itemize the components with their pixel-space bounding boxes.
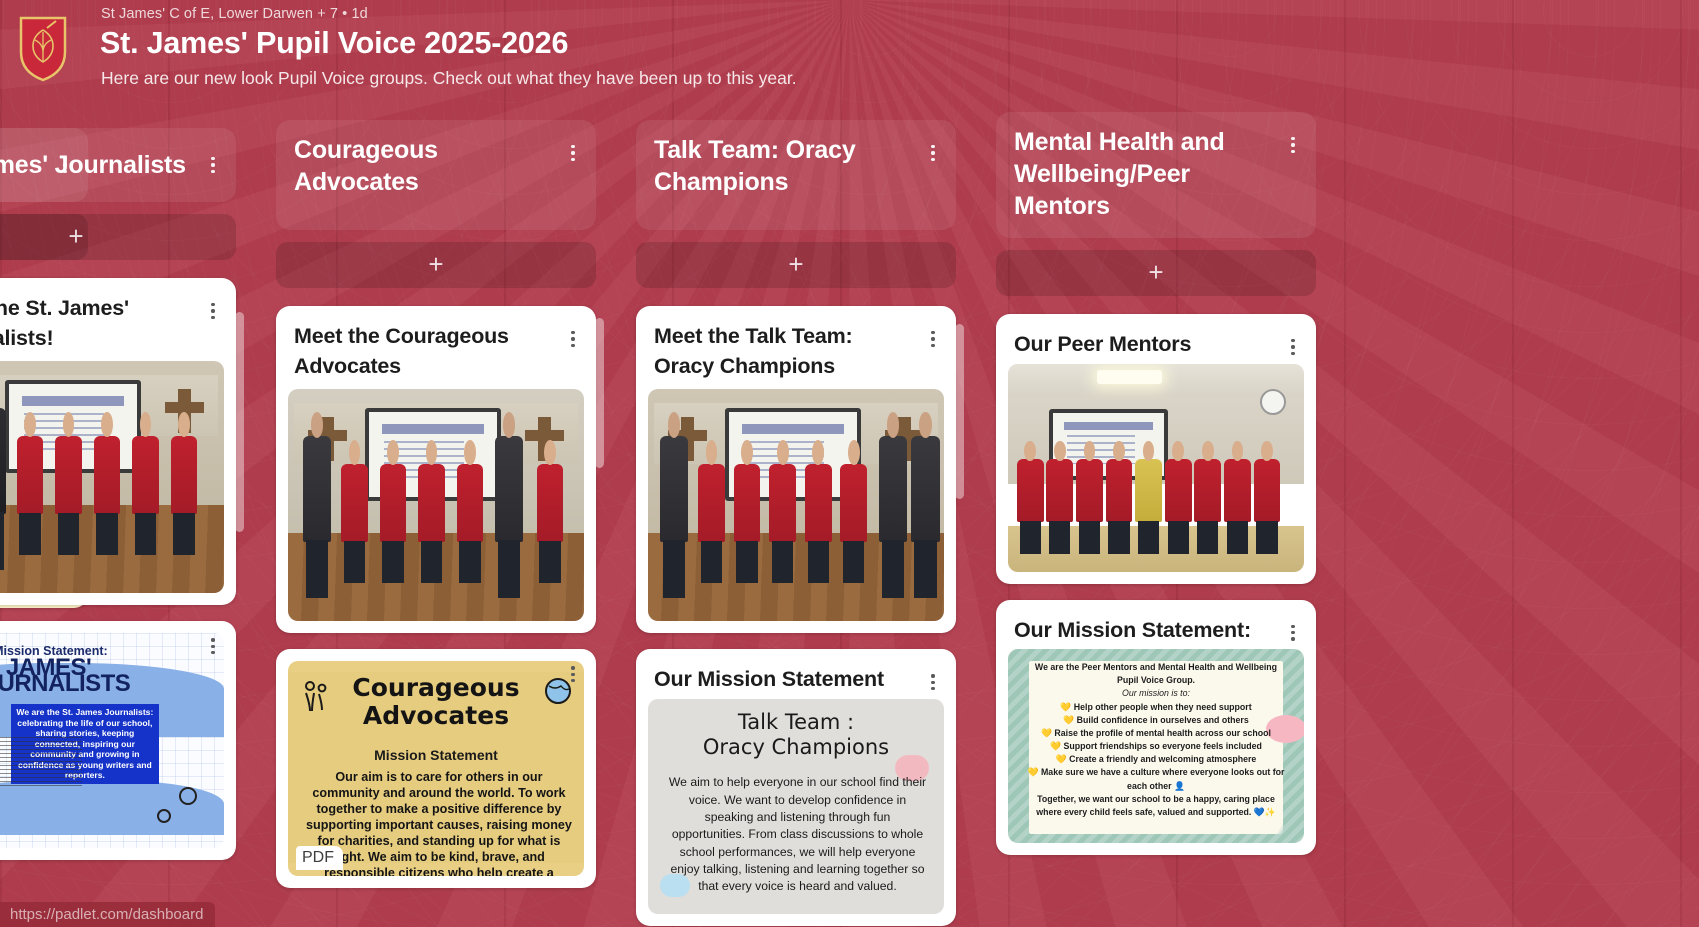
card-title: Meet the St. James' Journalists! (0, 290, 224, 361)
kebab-menu-icon[interactable] (564, 663, 582, 685)
kebab-menu-icon[interactable] (924, 671, 942, 693)
poster-heading1: Talk Team : (738, 710, 854, 734)
plus-icon: + (428, 251, 443, 277)
poster-bullet: Build confidence in ourselves and others (1077, 715, 1249, 725)
poster-bullet: Support friendships so everyone feels in… (1063, 741, 1261, 751)
poster-heading1: Courageous (352, 673, 519, 702)
column-header-st-james-journalists[interactable]: St James' Journalists (0, 128, 236, 202)
people-doodle-icon (300, 679, 334, 713)
page-title: St. James' Pupil Voice 2025-2026 (100, 26, 568, 61)
card-title: Meet the Talk Team: Oracy Champions (648, 318, 944, 389)
card-courageous-advocates-poster[interactable]: Courageous Advocates Mission Statement O… (276, 649, 596, 888)
poster-body: Our aim is to care for others in our com… (306, 769, 572, 877)
poster-line3: JOURNALISTS (0, 673, 130, 696)
card-meet-courageous-advocates[interactable]: Meet the Courageous Advocates (276, 306, 596, 633)
column-cards: Meet the Courageous Advocates (276, 306, 596, 888)
school-crest-icon (17, 16, 69, 82)
kebab-menu-icon[interactable] (1284, 336, 1302, 358)
poster-heading2: Oracy Champions (703, 735, 889, 759)
card-photo (288, 389, 584, 621)
column-title: St James' Journalists (0, 149, 186, 181)
add-post-button[interactable]: + (996, 250, 1316, 296)
poster-subheading: Our mission is to: (1026, 687, 1287, 700)
column-scrollbar[interactable] (955, 324, 964, 499)
poster-bullet: Make sure we have a culture where everyo… (1041, 767, 1284, 790)
card-photo (1008, 364, 1304, 572)
board-meta: St James' C of E, Lower Darwen + 7 • 1d (101, 6, 368, 22)
add-post-button[interactable]: + (636, 242, 956, 288)
column-st-james-journalists: St James' Journalists + Meet the St. Jam… (0, 112, 256, 927)
poster-heading2: Advocates (363, 701, 509, 730)
kebab-menu-icon[interactable] (1284, 622, 1302, 644)
kebab-menu-icon[interactable] (204, 154, 222, 176)
card-title: Our Peer Mentors (1008, 326, 1304, 364)
kebab-menu-icon[interactable] (204, 635, 222, 657)
add-post-button[interactable]: + (276, 242, 596, 288)
poster-closing: Together, we want our school to be a hap… (1026, 793, 1287, 819)
column-mental-health-peer-mentors: Mental Health and Wellbeing/Peer Mentors… (976, 112, 1336, 927)
kebab-menu-icon[interactable] (1284, 134, 1302, 156)
poster-bullet: Raise the profile of mental health acros… (1054, 728, 1271, 738)
poster-bullet: Help other people when they need support (1074, 702, 1252, 712)
status-bar-url: https://padlet.com/dashboard (0, 902, 215, 927)
card-peer-mentors-mission[interactable]: Our Mission Statement: We are the Peer M… (996, 600, 1316, 856)
poster-intro: We are the Peer Mentors and Mental Healt… (1026, 661, 1287, 687)
pdf-badge: PDF (296, 846, 343, 870)
column-title: Mental Health and Wellbeing/Peer Mentors (1014, 126, 1272, 222)
card-title: Our Mission Statement: (1008, 612, 1304, 650)
poster-subheading: Mission Statement (288, 747, 584, 763)
card-journalists-mission-poster[interactable]: Mission Statement: ST. JAMES' JOURNALIST… (0, 621, 236, 860)
plus-icon: + (1148, 259, 1163, 285)
board-columns: ors + rotectors (0, 112, 1699, 927)
column-title: Talk Team: Oracy Champions (654, 134, 912, 198)
poster-body: We aim to help everyone in our school fi… (669, 774, 927, 895)
column-cards: Our Peer Mentors (996, 314, 1316, 855)
kebab-menu-icon[interactable] (924, 142, 942, 164)
kebab-menu-icon[interactable] (204, 300, 222, 322)
board-header: St James' C of E, Lower Darwen + 7 • 1d … (0, 0, 1699, 110)
column-cards: Meet the St. James' Journalists! (0, 278, 236, 860)
card-talk-team-mission[interactable]: Our Mission Statement Talk Team : Oracy … (636, 649, 956, 926)
card-poster-talk-team: Talk Team : Oracy Champions We aim to he… (648, 699, 944, 914)
column-title: Courageous Advocates (294, 134, 552, 198)
column-header-talk-team[interactable]: Talk Team: Oracy Champions (636, 120, 956, 230)
plus-icon: + (788, 251, 803, 277)
kebab-menu-icon[interactable] (564, 328, 582, 350)
board-subtitle: Here are our new look Pupil Voice groups… (101, 68, 797, 89)
card-poster-peer-mentors: We are the Peer Mentors and Mental Healt… (1008, 649, 1304, 843)
card-meet-journalists[interactable]: Meet the St. James' Journalists! (0, 278, 236, 605)
card-poster-journalists: Mission Statement: ST. JAMES' JOURNALIST… (0, 633, 224, 848)
column-talk-team-oracy-champions: Talk Team: Oracy Champions + Meet the Ta… (616, 112, 976, 927)
card-title: Our Mission Statement (648, 661, 944, 699)
card-title: Meet the Courageous Advocates (288, 318, 584, 389)
poster-bullet: Create a friendly and welcoming atmosphe… (1069, 754, 1256, 764)
add-post-button[interactable]: + (0, 214, 236, 260)
kebab-menu-icon[interactable] (564, 142, 582, 164)
card-our-peer-mentors[interactable]: Our Peer Mentors (996, 314, 1316, 584)
column-scrollbar[interactable] (595, 318, 604, 468)
card-photo (0, 361, 224, 593)
card-photo (648, 389, 944, 621)
column-courageous-advocates: Courageous Advocates + Meet the Courageo… (256, 112, 616, 927)
kebab-menu-icon[interactable] (924, 328, 942, 350)
column-scrollbar[interactable] (235, 312, 244, 532)
column-cards: Meet the Talk Team: Oracy Champions (636, 306, 956, 926)
plus-icon: + (68, 223, 83, 249)
column-header-courageous-advocates[interactable]: Courageous Advocates (276, 120, 596, 230)
card-poster-courageous: Courageous Advocates Mission Statement O… (288, 661, 584, 876)
padlet-board-app: St James' C of E, Lower Darwen + 7 • 1d … (0, 0, 1699, 927)
column-header-peer-mentors[interactable]: Mental Health and Wellbeing/Peer Mentors (996, 112, 1316, 238)
card-meet-talk-team[interactable]: Meet the Talk Team: Oracy Champions (636, 306, 956, 633)
